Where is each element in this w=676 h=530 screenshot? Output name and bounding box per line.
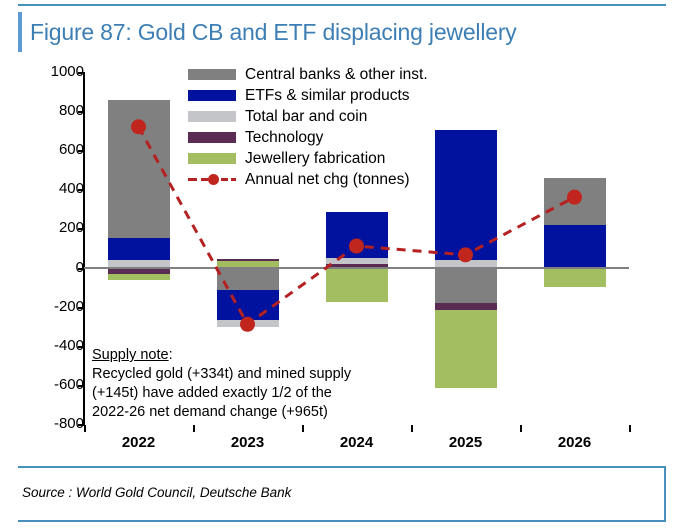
legend-item[interactable]: ETFs & similar products bbox=[188, 85, 428, 106]
supply-note: Supply note: Recycled gold (+334t) and m… bbox=[92, 346, 412, 422]
legend-label: Total bar and coin bbox=[245, 108, 367, 125]
x-axis-tick-label: 2023 bbox=[203, 434, 293, 452]
supply-note-colon: : bbox=[169, 347, 173, 363]
bar-segment bbox=[108, 100, 170, 238]
x-axis-tick-mark bbox=[302, 425, 304, 432]
supply-note-line-3: 2022-26 net demand change (+965t) bbox=[92, 403, 412, 422]
bar-segment bbox=[435, 310, 497, 388]
bar-segment bbox=[108, 238, 170, 260]
legend-item[interactable]: Central banks & other inst. bbox=[188, 64, 428, 85]
legend-item[interactable]: Annual net chg (tonnes) bbox=[188, 169, 428, 190]
top-divider bbox=[18, 4, 666, 6]
x-axis-tick-label: 2024 bbox=[312, 434, 402, 452]
bar-group-2025[interactable] bbox=[435, 72, 497, 424]
bar-segment bbox=[326, 268, 388, 302]
legend-color-swatch bbox=[188, 90, 236, 101]
bar-group-2026[interactable] bbox=[544, 72, 606, 424]
legend-item[interactable]: Jewellery fabrication bbox=[188, 148, 428, 169]
source-caption: Source : World Gold Council, Deutsche Ba… bbox=[22, 484, 291, 502]
bar-segment bbox=[326, 212, 388, 258]
legend-color-swatch bbox=[188, 132, 236, 143]
bar-segment bbox=[108, 274, 170, 280]
supply-note-line-2: (+145t) have added exactly 1/2 of the bbox=[92, 384, 412, 403]
x-axis-tick-mark bbox=[411, 425, 413, 432]
legend-item[interactable]: Technology bbox=[188, 127, 428, 148]
bottom-divider bbox=[18, 520, 666, 522]
bar-segment bbox=[544, 178, 606, 225]
legend-color-swatch bbox=[188, 69, 236, 80]
bar-segment bbox=[544, 225, 606, 268]
legend-label: Central banks & other inst. bbox=[245, 66, 428, 83]
y-axis-labels: 10008006004002000-200-400-600-800 bbox=[0, 0, 84, 530]
legend-label: ETFs & similar products bbox=[245, 87, 410, 104]
x-axis-tick-label: 2025 bbox=[421, 434, 511, 452]
bar-segment bbox=[435, 303, 497, 310]
source-top-divider bbox=[18, 466, 666, 468]
bar-segment bbox=[217, 268, 279, 290]
bar-segment bbox=[217, 290, 279, 320]
x-axis-tick-mark bbox=[193, 425, 195, 432]
x-axis-tick-label: 2022 bbox=[94, 434, 184, 452]
figure-container: Figure 87: Gold CB and ETF displacing je… bbox=[0, 0, 676, 530]
page-title: Figure 87: Gold CB and ETF displacing je… bbox=[30, 16, 517, 48]
legend-label: Annual net chg (tonnes) bbox=[245, 171, 410, 188]
bar-segment bbox=[435, 268, 497, 303]
bar-segment bbox=[544, 268, 606, 288]
x-axis-tick-mark bbox=[629, 425, 631, 432]
bar-segment bbox=[435, 130, 497, 260]
legend-color-swatch bbox=[188, 153, 236, 164]
supply-note-heading: Supply note bbox=[92, 347, 169, 363]
x-axis-tick-mark bbox=[84, 425, 86, 432]
bar-segment bbox=[326, 258, 388, 264]
legend-line-swatch bbox=[188, 174, 236, 185]
legend-item[interactable]: Total bar and coin bbox=[188, 106, 428, 127]
legend-label: Technology bbox=[245, 129, 323, 146]
legend-color-swatch bbox=[188, 111, 236, 122]
bar-segment bbox=[217, 320, 279, 327]
bar-segment bbox=[217, 259, 279, 261]
zero-baseline bbox=[84, 267, 629, 269]
x-axis-tick-label: 2026 bbox=[530, 434, 620, 452]
source-right-accent bbox=[664, 466, 666, 522]
x-axis-tick-mark bbox=[520, 425, 522, 432]
legend-label: Jewellery fabrication bbox=[245, 150, 385, 167]
supply-note-line-1: Recycled gold (+334t) and mined supply bbox=[92, 365, 412, 384]
chart-legend: Central banks & other inst.ETFs & simila… bbox=[188, 64, 428, 190]
